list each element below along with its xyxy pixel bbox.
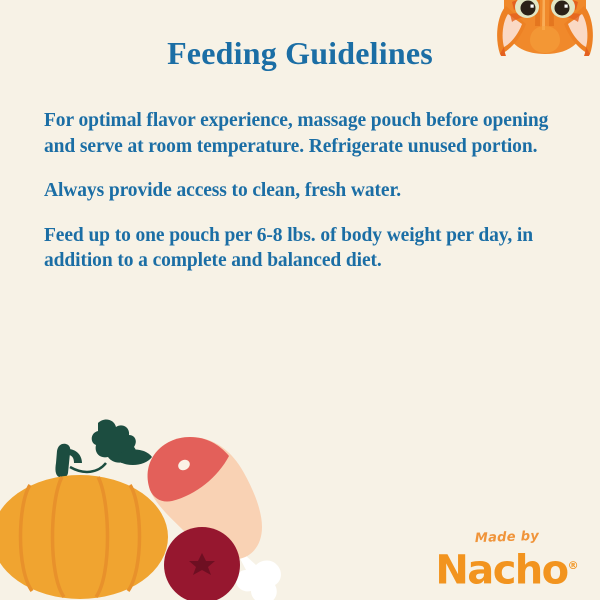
produce-illustration <box>0 415 320 600</box>
feeding-instructions: For optimal flavor experience, massage p… <box>44 108 560 274</box>
instruction-paragraph-2: Always provide access to clean, fresh wa… <box>44 178 560 204</box>
instruction-paragraph-1: For optimal flavor experience, massage p… <box>44 108 560 159</box>
brand-logo: Made by Nacho® <box>428 528 586 590</box>
logo-brand-word: Nacho <box>435 547 567 593</box>
pumpkin-icon <box>0 420 168 599</box>
feeding-guidelines-page: Feeding Guidelines For optimal flavor ex… <box>0 0 600 600</box>
instruction-paragraph-3: Feed up to one pouch per 6-8 lbs. of bod… <box>44 223 560 274</box>
logo-brand-name: Nacho® <box>428 544 586 592</box>
produce-decoration <box>0 415 320 600</box>
cranberry-icon <box>164 527 240 600</box>
registered-trademark-icon: ® <box>568 559 579 572</box>
page-title: Feeding Guidelines <box>0 36 600 71</box>
